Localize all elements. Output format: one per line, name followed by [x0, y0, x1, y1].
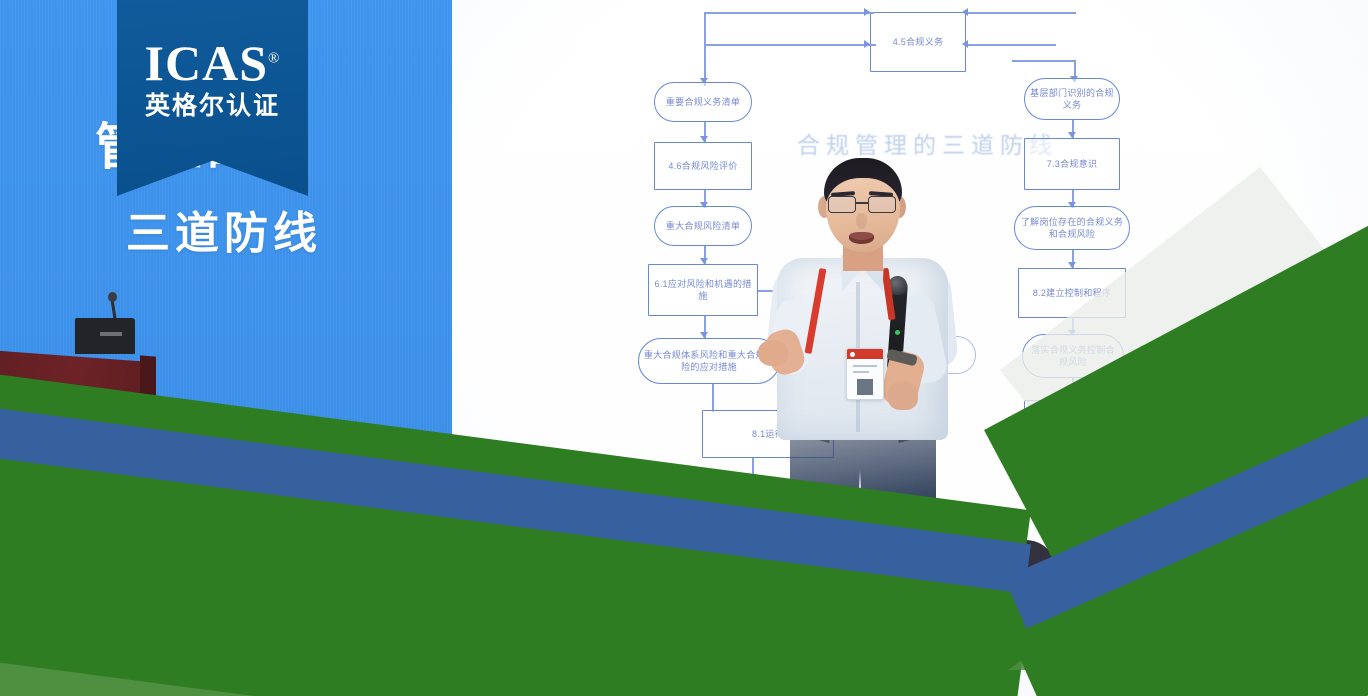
- audience-shoulders: [600, 586, 720, 646]
- registered-mark-icon: ®: [268, 50, 280, 66]
- badge-text-line: [853, 371, 869, 373]
- speaker-nose: [856, 213, 867, 229]
- screenshot-root: 合规管理的三道防线 4.5合规义务 重要合规义务清单 4.6合规风险评价 重大合…: [0, 0, 1368, 696]
- speaker-hand-left: [758, 340, 788, 366]
- glasses-bridge: [856, 202, 868, 204]
- microphone-led-icon: [895, 330, 900, 335]
- icas-subtitle: 英格尔认证: [117, 94, 308, 119]
- lectern-control-strip: [100, 332, 122, 336]
- lectern-top: [75, 318, 135, 354]
- eyeglasses-icon: [828, 196, 898, 213]
- audience-head: [740, 562, 796, 610]
- speaker-mouth: [849, 232, 874, 244]
- id-badge: [846, 348, 884, 400]
- wall-headline-line-2: 三道防线: [126, 212, 322, 256]
- audience-head: [626, 534, 692, 592]
- badge-qr-icon: [857, 379, 873, 395]
- podium-side-panel: [140, 355, 156, 462]
- podium-mic-head-icon: [108, 292, 117, 302]
- podium-front-panel: [0, 348, 156, 472]
- audience-head: [993, 540, 1055, 596]
- badge-logo-icon: [850, 352, 855, 357]
- icas-wordmark: ICAS®: [117, 38, 308, 88]
- icas-wordmark-text: ICAS: [145, 35, 268, 91]
- lens-right: [868, 196, 896, 213]
- badge-text-line: [853, 365, 877, 367]
- audience-shoulders: [968, 592, 1084, 652]
- speaker-hand-right: [888, 382, 918, 410]
- lens-left: [828, 196, 856, 213]
